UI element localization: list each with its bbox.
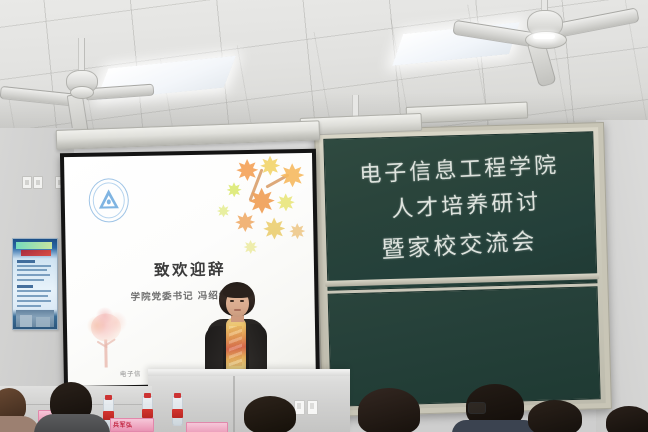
blackboard-panel-lower xyxy=(328,286,601,406)
wall-switch-1[interactable] xyxy=(22,176,32,189)
bottle-label xyxy=(142,409,153,418)
poster-text-line xyxy=(17,279,44,281)
poster-heading xyxy=(17,260,35,263)
seal-dot xyxy=(107,199,111,204)
poster-text-line xyxy=(17,265,51,267)
fan-light xyxy=(533,34,555,39)
blackboard-line-3: 暨家校交流会 xyxy=(325,219,594,268)
poster-text-line xyxy=(17,295,48,297)
poster-building-photo xyxy=(16,310,54,327)
maple-leaf-icon xyxy=(277,193,295,211)
audience-head-3 xyxy=(244,396,296,432)
blackboard: 电子信息工程学院 人才培养研讨 暨家校交流会 xyxy=(314,122,612,417)
notice-poster xyxy=(12,238,58,330)
podium-socket-right[interactable] xyxy=(307,400,318,415)
water-bottle-3 xyxy=(172,396,183,426)
nameplate-text: 兵军弘 xyxy=(113,420,133,429)
maple-leaf-icon xyxy=(243,240,257,254)
slide-surface: 致欢迎辞 学院党委书记 冯绍红教授 电子信 xyxy=(64,153,316,386)
poster-text-line xyxy=(17,269,47,271)
bottle-cap xyxy=(105,395,112,400)
maple-leaf-icon xyxy=(217,204,230,217)
maple-leaf-icon xyxy=(280,163,304,187)
audience-body-2 xyxy=(34,414,110,432)
slide-footer-text: 电子信 xyxy=(120,368,141,378)
podium-edge xyxy=(233,376,235,432)
fan-blade xyxy=(556,7,639,37)
maple-leaf-icon xyxy=(226,182,241,197)
presenter-mouth xyxy=(234,309,241,311)
projection-screen: 致欢迎辞 学院党委书记 冯绍红教授 电子信 xyxy=(60,149,320,391)
poster-text-line xyxy=(17,274,50,276)
audience-glasses xyxy=(468,402,486,414)
presenter-eye-right xyxy=(240,300,244,302)
maple-leaf-icon xyxy=(260,155,280,175)
presenter-woman xyxy=(205,282,267,378)
audience-head-6 xyxy=(528,400,582,432)
poster-banner xyxy=(21,250,51,256)
blackboard-panel-upper: 电子信息工程学院 人才培养研讨 暨家校交流会 xyxy=(323,131,597,290)
ceiling-fan-left xyxy=(20,38,190,118)
poster-text-line xyxy=(17,300,51,302)
maple-leaf-icon xyxy=(263,217,285,239)
poster-heading xyxy=(17,285,33,288)
ceiling-fan-right xyxy=(495,0,648,80)
slide-tree-graphic xyxy=(83,307,130,368)
presenter-eye-left xyxy=(230,300,234,302)
wall-switch-2[interactable] xyxy=(33,176,43,189)
audience-body-5 xyxy=(452,420,538,432)
fan-downrod xyxy=(78,38,85,72)
poster-title-band xyxy=(16,242,52,249)
bottle-label xyxy=(172,409,183,418)
fan-hub xyxy=(70,86,94,99)
bottle-cap xyxy=(174,393,181,398)
audience-head-4 xyxy=(358,388,420,432)
presenter-fringe xyxy=(223,286,253,298)
university-seal-logo xyxy=(88,178,129,223)
slide-subtitle: 学院党委书记 冯绍红教授 xyxy=(66,286,314,304)
audience-head-7 xyxy=(606,406,648,432)
poster-text-line xyxy=(17,305,41,307)
maple-leaf-icon xyxy=(235,212,255,232)
podium-top-surface xyxy=(148,370,350,376)
maple-leaf-icon xyxy=(236,159,258,181)
bottle-cap xyxy=(144,393,151,398)
poster-text-line xyxy=(17,290,51,292)
nameplate-3 xyxy=(186,422,228,432)
classroom-photo-scene: 电子信息工程学院 人才培养研讨 暨家校交流会 xyxy=(0,0,648,432)
slide-title: 致欢迎辞 xyxy=(66,256,314,282)
nameplate-1: 兵军弘 xyxy=(110,418,154,432)
maple-leaf-icon xyxy=(289,223,305,239)
